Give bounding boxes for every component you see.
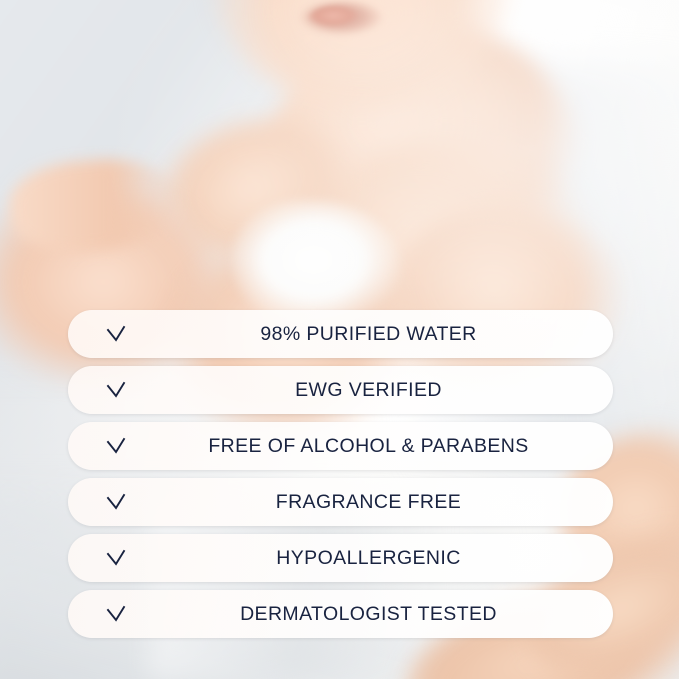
feature-badge-label: EWG VERIFIED: [164, 379, 613, 402]
check-icon: [68, 489, 164, 515]
check-icon: [68, 601, 164, 627]
feature-badge: FREE OF ALCOHOL & PARABENS: [68, 422, 613, 470]
check-icon: [68, 433, 164, 459]
feature-badge-label: FREE OF ALCOHOL & PARABENS: [164, 435, 613, 458]
photo-baby-tongue: [308, 6, 364, 30]
feature-badge-list: 98% PURIFIED WATER EWG VERIFIED FREE OF …: [68, 310, 613, 638]
feature-badge-label: FRAGRANCE FREE: [164, 491, 613, 514]
feature-badge-label: 98% PURIFIED WATER: [164, 323, 613, 346]
feature-badge: FRAGRANCE FREE: [68, 478, 613, 526]
check-icon: [68, 545, 164, 571]
feature-badge: EWG VERIFIED: [68, 366, 613, 414]
check-icon: [68, 321, 164, 347]
feature-badge-label: DERMATOLOGIST TESTED: [164, 603, 613, 626]
feature-badge: 98% PURIFIED WATER: [68, 310, 613, 358]
check-icon: [68, 377, 164, 403]
feature-badge: HYPOALLERGENIC: [68, 534, 613, 582]
feature-badge: DERMATOLOGIST TESTED: [68, 590, 613, 638]
feature-badge-label: HYPOALLERGENIC: [164, 547, 613, 570]
product-feature-graphic: 98% PURIFIED WATER EWG VERIFIED FREE OF …: [0, 0, 679, 679]
